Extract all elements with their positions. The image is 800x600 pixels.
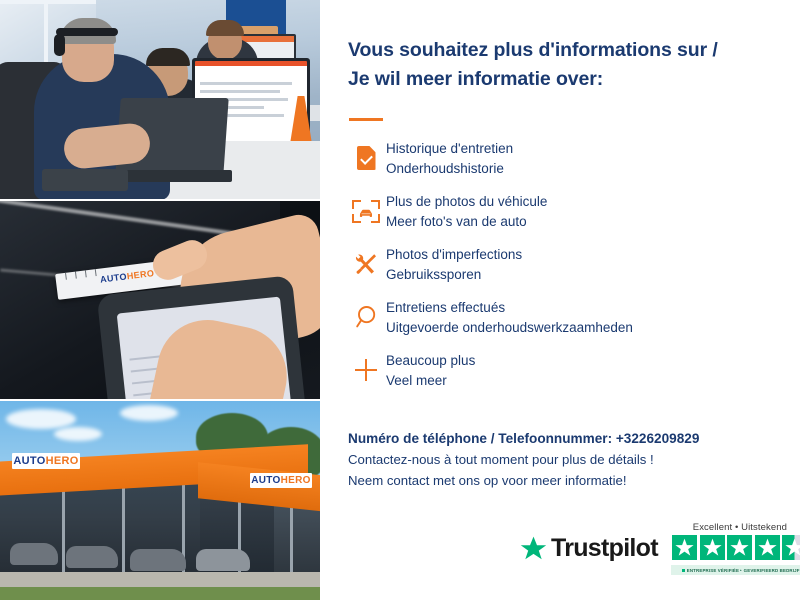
column-divider (320, 0, 322, 600)
trustpilot-widget[interactable]: Trustpilot Excellent • Uitstekend (520, 522, 800, 575)
verified-business-bar: ENTREPRISE VÉRIFIÉE • GEVERIFIEERD BEDRI… (671, 565, 800, 575)
autohero-sign-front: AUTOHERO (12, 453, 80, 469)
wordmark-hero: HERO (46, 455, 79, 467)
magnifier-icon (346, 297, 386, 337)
list-item-label-fr: Photos d'imperfections (386, 245, 522, 265)
trustpilot-logo: Trustpilot (520, 534, 658, 563)
page-title-line-fr: Vous souhaitez plus d'informations sur / (348, 36, 778, 65)
verified-label-fr: ENTREPRISE VÉRIFIÉE (686, 567, 738, 572)
contact-cta-fr: Contactez-nous à tout moment pour plus d… (348, 449, 788, 470)
page-title: Vous souhaitez plus d'informations sur /… (348, 36, 778, 94)
list-item-text: Photos d'imperfections Gebruikssporen (386, 242, 522, 284)
star-1 (672, 535, 697, 560)
list-item-text: Entretiens effectués Uitgevoerde onderho… (386, 295, 633, 337)
cloud (54, 427, 102, 441)
list-item: Historique d'entretien Onderhoudshistori… (346, 136, 746, 188)
verified-separator: • (740, 567, 742, 572)
list-item-label-nl: Veel meer (386, 371, 475, 391)
contact-cta-nl: Neem contact met ons op voor meer inform… (348, 470, 788, 491)
cloud (120, 405, 178, 421)
autohero-sign-side: AUTOHERO (250, 473, 312, 488)
page-title-line-nl: Je wil meer informatie over: (348, 65, 778, 94)
window-frame-bar (0, 0, 96, 4)
list-item-label-nl: Meer foto's van de auto (386, 212, 547, 232)
list-item: Entretiens effectués Uitgevoerde onderho… (346, 295, 746, 347)
grass-strip (0, 587, 320, 600)
list-item-text: Plus de photos du véhicule Meer foto's v… (386, 189, 547, 231)
list-item: Plus de photos du véhicule Meer foto's v… (346, 189, 746, 241)
list-item-label-nl: Uitgevoerde onderhoudswerkzaamheden (386, 318, 633, 338)
feature-list: Historique d'entretien Onderhoudshistori… (346, 136, 746, 401)
ruler-autohero-wordmark: AUTOHERO (99, 268, 154, 285)
trustpilot-wordmark: Trustpilot (551, 534, 658, 563)
flyer-page: AUTOHERO (0, 0, 800, 600)
list-item-text: Beaucoup plus Veel meer (386, 348, 475, 390)
cloud (6, 409, 76, 429)
list-item: Photos d'imperfections Gebruikssporen (346, 242, 746, 294)
trustpilot-caption: Excellent • Uitstekend (693, 522, 787, 533)
showroom-car (196, 549, 250, 571)
phone-number-label[interactable]: Numéro de téléphone / Telefoonnummer: +3… (348, 428, 788, 449)
document-check-icon (346, 138, 386, 178)
verified-label-nl: GEVERIFIEERD BEDRIJF (744, 567, 800, 572)
list-item-label-fr: Entretiens effectués (386, 298, 633, 318)
title-accent-rule (349, 118, 383, 121)
agent-3-hair (206, 20, 244, 36)
list-item-label-nl: Onderhoudshistorie (386, 159, 513, 179)
star-4 (755, 535, 780, 560)
trustpilot-stars (672, 535, 800, 560)
showroom-car (130, 549, 186, 571)
wordmark-hero: HERO (281, 475, 311, 486)
car-focus-frame-icon (346, 191, 386, 231)
vehicle-inspection-photo: AUTOHERO (0, 201, 320, 400)
list-item-label-fr: Beaucoup plus (386, 351, 475, 371)
facade-mullion (62, 483, 65, 583)
autohero-showroom-photo: AUTOHERO AUTOHERO (0, 401, 320, 600)
trustpilot-star-icon (520, 536, 547, 562)
list-item-text: Historique d'entretien Onderhoudshistori… (386, 136, 513, 178)
desk-tablet (42, 169, 128, 191)
agent-1-headset-earpiece (54, 34, 65, 56)
trustpilot-rating-block: Excellent • Uitstekend (671, 522, 800, 575)
showroom-car (10, 543, 58, 565)
content-column: Vous souhaitez plus d'informations sur /… (320, 0, 800, 600)
photo-column: AUTOHERO (0, 0, 320, 600)
agent-2-hair (146, 48, 190, 66)
agent-1-headset-band (56, 28, 118, 36)
list-item: Beaucoup plus Veel meer (346, 348, 746, 400)
star-3 (727, 535, 752, 560)
verified-check-icon (682, 569, 685, 572)
wordmark-hero: HERO (126, 268, 155, 281)
star-2 (700, 535, 725, 560)
crossed-tools-icon (346, 244, 386, 284)
list-item-label-nl: Gebruikssporen (386, 265, 522, 285)
wordmark-auto: AUTO (99, 271, 127, 284)
plus-icon (346, 350, 386, 390)
list-item-label-fr: Plus de photos du véhicule (386, 192, 547, 212)
wordmark-auto: AUTO (13, 455, 45, 467)
call-center-agents-photo (0, 0, 320, 199)
contact-block: Numéro de téléphone / Telefoonnummer: +3… (348, 428, 788, 491)
wordmark-auto: AUTO (251, 475, 280, 486)
star-5-half (782, 535, 800, 560)
showroom-car (66, 546, 118, 568)
list-item-label-fr: Historique d'entretien (386, 139, 513, 159)
facade-mullion (122, 483, 125, 583)
